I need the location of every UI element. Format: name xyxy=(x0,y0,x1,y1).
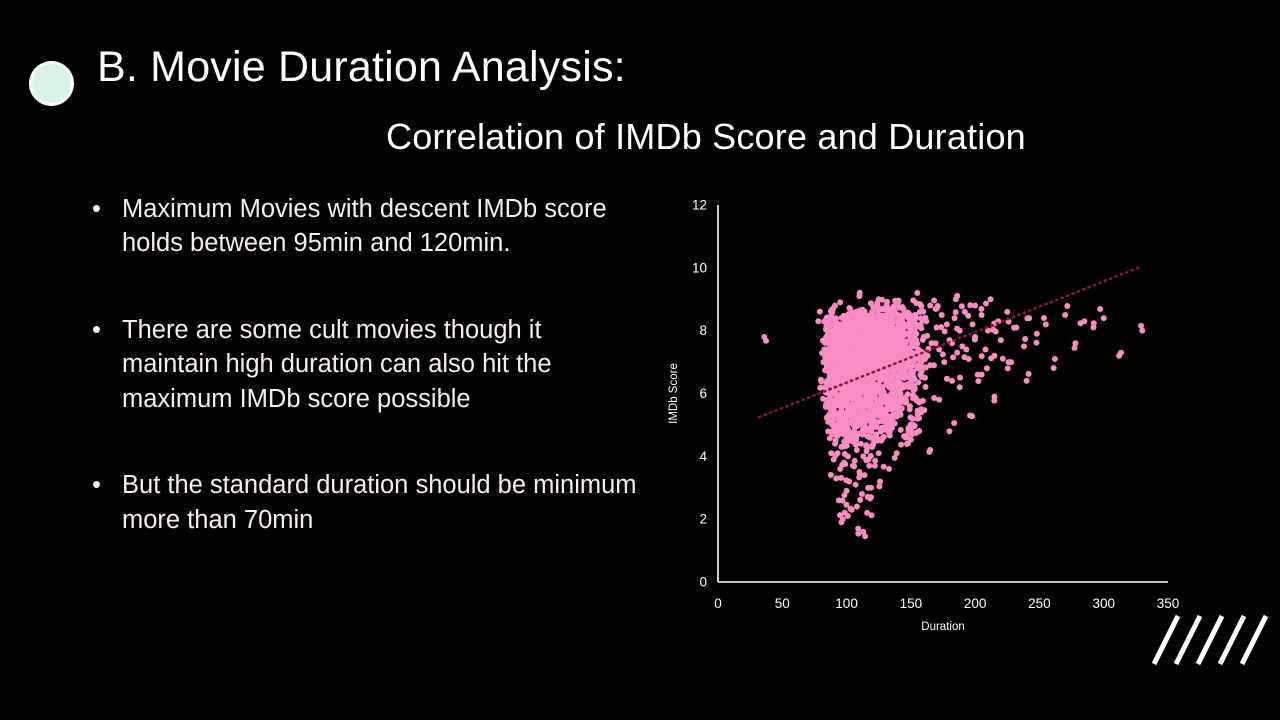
scatter-point xyxy=(1138,323,1144,329)
scatter-point xyxy=(868,453,874,459)
scatter-point xyxy=(984,365,990,371)
scatter-point xyxy=(1034,340,1040,346)
scatter-point xyxy=(952,315,958,321)
scatter-point xyxy=(890,304,896,310)
scatter-point xyxy=(834,423,840,429)
scatter-point xyxy=(954,293,960,299)
x-tick-label: 150 xyxy=(900,596,923,611)
chart-tick-labels-group: 024681012050100150200250300350 xyxy=(692,198,1179,612)
x-tick-label: 300 xyxy=(1092,596,1115,611)
scatter-point xyxy=(872,458,878,464)
scatter-point xyxy=(972,337,978,343)
scatter-point xyxy=(879,397,885,403)
scatter-point xyxy=(965,313,971,319)
scatter-point xyxy=(852,458,858,464)
list-item: • But the standard duration should be mi… xyxy=(92,468,637,537)
scatter-point xyxy=(954,350,960,356)
scatter-point xyxy=(842,443,848,449)
scatter-point xyxy=(998,337,1004,343)
scatter-point xyxy=(944,376,950,382)
y-tick-label: 10 xyxy=(692,260,707,275)
scatter-point xyxy=(846,420,852,426)
scatter-point xyxy=(881,323,887,329)
x-tick-label: 350 xyxy=(1157,596,1180,611)
bullet-text: But the standard duration should be mini… xyxy=(122,468,637,537)
scatter-point xyxy=(865,485,871,491)
bullet-glyph: • xyxy=(92,192,122,226)
scatter-point xyxy=(957,375,963,381)
scatter-point xyxy=(817,385,823,391)
scatter-point xyxy=(763,338,769,344)
x-tick-label: 200 xyxy=(964,596,987,611)
scatter-point xyxy=(818,379,824,385)
scatter-point xyxy=(916,415,922,421)
scatter-point xyxy=(978,306,984,312)
scatter-point xyxy=(898,442,904,448)
scatter-point xyxy=(896,298,902,304)
scatter-point xyxy=(957,384,963,390)
scatter-point xyxy=(905,440,911,446)
scatter-point xyxy=(838,519,844,525)
scatter-point xyxy=(1051,365,1057,371)
scatter-point xyxy=(939,312,945,318)
y-tick-label: 4 xyxy=(699,449,707,464)
scatter-point xyxy=(988,296,994,302)
scatter-point xyxy=(854,447,860,453)
scatter-point xyxy=(969,413,975,419)
scatter-point xyxy=(983,301,989,307)
bullet-text: Maximum Movies with descent IMDb score h… xyxy=(122,192,637,261)
scatter-point xyxy=(857,497,863,503)
y-axis-label: IMDb Score xyxy=(668,363,680,424)
scatter-point xyxy=(843,400,849,406)
scatter-point xyxy=(863,457,869,463)
scatter-point xyxy=(888,384,894,390)
scatter-point xyxy=(862,533,868,539)
scatter-point xyxy=(908,329,914,335)
scatter-point xyxy=(891,370,897,376)
scatter-point xyxy=(853,482,859,488)
scatter-point xyxy=(975,378,981,384)
scatter-point xyxy=(1026,371,1032,377)
scatter-point xyxy=(950,354,956,360)
scatter-point xyxy=(946,428,952,434)
scatter-point xyxy=(833,432,839,438)
list-item: • Maximum Movies with descent IMDb score… xyxy=(92,192,637,261)
scatter-point xyxy=(824,350,830,356)
scatter-point xyxy=(851,463,857,469)
scatter-point xyxy=(993,329,999,335)
scatter-point xyxy=(837,299,843,305)
scatter-point xyxy=(864,344,870,350)
scatter-point xyxy=(1006,359,1012,365)
bullet-text: There are some cult movies though it mai… xyxy=(122,313,637,416)
scatter-point xyxy=(837,512,843,518)
scatter-point xyxy=(847,305,853,311)
scatter-point xyxy=(865,410,871,416)
x-tick-label: 50 xyxy=(775,596,790,611)
scatter-point xyxy=(970,321,976,327)
scatter-point xyxy=(907,406,913,412)
scatter-point xyxy=(838,416,844,422)
scatter-point xyxy=(857,390,863,396)
scatter-point xyxy=(909,384,915,390)
bullet-glyph: • xyxy=(92,313,122,347)
bullet-glyph: • xyxy=(92,468,122,502)
scatter-point xyxy=(1101,315,1107,321)
scatter-point xyxy=(1072,345,1078,351)
scatter-point xyxy=(852,355,858,361)
scatter-point xyxy=(1022,336,1028,342)
scatter-point xyxy=(861,368,867,374)
scatter-point xyxy=(832,452,838,458)
scatter-point xyxy=(892,455,898,461)
scatter-point xyxy=(918,325,924,331)
scatter-point xyxy=(1000,356,1006,362)
scatter-point xyxy=(881,464,887,470)
scatter-point xyxy=(1052,356,1058,362)
scatter-point xyxy=(988,355,994,361)
scatter-point xyxy=(830,329,836,335)
scatter-point xyxy=(899,329,905,335)
scatter-point xyxy=(874,302,880,308)
scatter-point xyxy=(919,317,925,323)
slash-mark xyxy=(1198,616,1222,664)
scatter-point xyxy=(920,309,926,315)
scatter-point xyxy=(874,424,880,430)
scatter-point xyxy=(916,400,922,406)
scatter-point xyxy=(899,399,905,405)
y-tick-label: 0 xyxy=(699,575,707,590)
scatter-point xyxy=(828,472,834,478)
scatter-point xyxy=(884,406,890,412)
scatter-point xyxy=(959,303,965,309)
scatter-point xyxy=(815,318,821,324)
scatter-point xyxy=(875,311,881,317)
scatter-point xyxy=(924,333,930,339)
scatter-point xyxy=(865,444,871,450)
scatter-chart: 024681012050100150200250300350 DurationI… xyxy=(660,190,1200,640)
scatter-point xyxy=(921,364,927,370)
scatter-point xyxy=(935,303,941,309)
scatter-point xyxy=(899,405,905,411)
scatter-point xyxy=(1064,303,1070,309)
scatter-point xyxy=(1043,321,1049,327)
scatter-point xyxy=(879,297,885,303)
scatter-point xyxy=(896,323,902,329)
scatter-point xyxy=(1091,320,1097,326)
scatter-point xyxy=(851,388,857,394)
scatter-point xyxy=(853,350,859,356)
scatter-point xyxy=(963,347,969,353)
scatter-point xyxy=(846,435,852,441)
slash-mark xyxy=(1154,616,1178,664)
scatter-point xyxy=(907,335,913,341)
scatter-point xyxy=(851,424,857,430)
scatter-point xyxy=(884,342,890,348)
scatter-point xyxy=(859,408,865,414)
scatter-point xyxy=(982,347,988,353)
scatter-point xyxy=(1097,306,1103,312)
scatter-point xyxy=(979,353,985,359)
scatter-point xyxy=(914,290,920,296)
scatter-point xyxy=(909,363,915,369)
y-tick-label: 8 xyxy=(699,323,707,338)
bullet-list: • Maximum Movies with descent IMDb score… xyxy=(92,192,637,537)
scatter-point xyxy=(918,303,924,309)
x-tick-label: 0 xyxy=(714,596,722,611)
scatter-point xyxy=(898,427,904,433)
scatter-point xyxy=(954,326,960,332)
scatter-point xyxy=(927,303,933,309)
title-marker-dot xyxy=(32,64,71,103)
scatter-point xyxy=(875,321,881,327)
scatter-point xyxy=(933,340,939,346)
scatter-point xyxy=(873,396,879,402)
scatter-point xyxy=(869,417,875,423)
scatter-point xyxy=(886,466,892,472)
scatter-point xyxy=(1024,378,1030,384)
scatter-point xyxy=(860,430,866,436)
scatter-point xyxy=(927,362,933,368)
scatter-point xyxy=(886,424,892,430)
scatter-point xyxy=(869,512,875,518)
scatter-point xyxy=(991,398,997,404)
scatter-point xyxy=(841,492,847,498)
slash-mark xyxy=(1242,616,1266,664)
scatter-point xyxy=(907,414,913,420)
page-subtitle: Correlation of IMDb Score and Duration xyxy=(386,118,1026,156)
scatter-point xyxy=(892,420,898,426)
scatter-point xyxy=(876,450,882,456)
scatter-point xyxy=(917,372,923,378)
scatter-point xyxy=(847,506,853,512)
y-tick-label: 6 xyxy=(699,386,707,401)
scatter-point xyxy=(876,483,882,489)
scatter-point xyxy=(817,309,823,315)
scatter-point xyxy=(961,354,967,360)
scatter-point xyxy=(838,475,844,481)
scatter-point xyxy=(842,451,848,457)
scatter-point xyxy=(1041,315,1047,321)
scatter-point xyxy=(941,359,947,365)
scatter-point xyxy=(854,504,860,510)
scatter-point xyxy=(843,477,849,483)
scatter-point xyxy=(909,375,915,381)
scatter-point xyxy=(896,352,902,358)
scatter-point xyxy=(855,531,861,537)
scatter-points-group xyxy=(761,290,1145,540)
scatter-point xyxy=(838,332,844,338)
scatter-point xyxy=(887,433,893,439)
scatter-point xyxy=(931,297,937,303)
scatter-point xyxy=(881,434,887,440)
scatter-point xyxy=(910,369,916,375)
scatter-point xyxy=(940,351,946,357)
scatter-point xyxy=(1118,350,1124,356)
x-tick-label: 250 xyxy=(1028,596,1051,611)
scatter-point xyxy=(890,309,896,315)
scatter-point xyxy=(867,495,873,501)
scatter-point xyxy=(953,309,959,315)
x-axis-label: Duration xyxy=(921,621,964,633)
scatter-point xyxy=(979,312,985,318)
page-title: B. Movie Duration Analysis: xyxy=(97,45,626,90)
scatter-point xyxy=(1062,312,1068,318)
chart-axes-group xyxy=(718,205,1168,582)
scatter-point xyxy=(859,491,865,497)
scatter-point xyxy=(882,412,888,418)
scatter-point xyxy=(869,316,875,322)
scatter-point xyxy=(1005,365,1011,371)
scatter-point xyxy=(874,435,880,441)
corner-slash-decoration xyxy=(1148,610,1268,668)
scatter-point xyxy=(1011,325,1017,331)
scatter-point xyxy=(1004,309,1010,315)
scatter-point xyxy=(931,395,937,401)
y-tick-label: 2 xyxy=(699,512,707,527)
slash-mark xyxy=(1220,616,1244,664)
scatter-chart-svg: 024681012050100150200250300350 DurationI… xyxy=(660,190,1200,640)
scatter-point xyxy=(915,408,921,414)
scatter-point xyxy=(832,303,838,309)
y-tick-label: 12 xyxy=(692,198,707,213)
scatter-point xyxy=(967,302,973,308)
scatter-point xyxy=(942,328,948,334)
list-item: • There are some cult movies though it m… xyxy=(92,313,637,416)
scatter-point xyxy=(828,338,834,344)
scatter-point xyxy=(944,321,950,327)
scatter-point xyxy=(1034,331,1040,337)
scatter-point xyxy=(909,431,915,437)
scatter-point xyxy=(979,372,985,378)
scatter-point xyxy=(1021,343,1027,349)
scatter-point xyxy=(908,422,914,428)
scatter-point xyxy=(913,337,919,343)
scatter-point xyxy=(912,316,918,322)
scatter-point xyxy=(886,324,892,330)
slash-mark xyxy=(1176,616,1200,664)
scatter-point xyxy=(866,463,872,469)
scatter-point xyxy=(926,449,932,455)
scatter-point xyxy=(1024,315,1030,321)
scatter-point xyxy=(857,290,863,296)
scatter-point xyxy=(923,384,929,390)
scatter-point xyxy=(853,436,859,442)
scatter-point xyxy=(825,318,831,324)
scatter-point xyxy=(910,297,916,303)
scatter-point xyxy=(951,420,957,426)
scatter-point xyxy=(881,389,887,395)
scatter-point xyxy=(853,442,859,448)
scatter-point xyxy=(1078,320,1084,326)
scatter-point xyxy=(857,472,863,478)
x-tick-label: 100 xyxy=(835,596,858,611)
scatter-point xyxy=(839,462,845,468)
